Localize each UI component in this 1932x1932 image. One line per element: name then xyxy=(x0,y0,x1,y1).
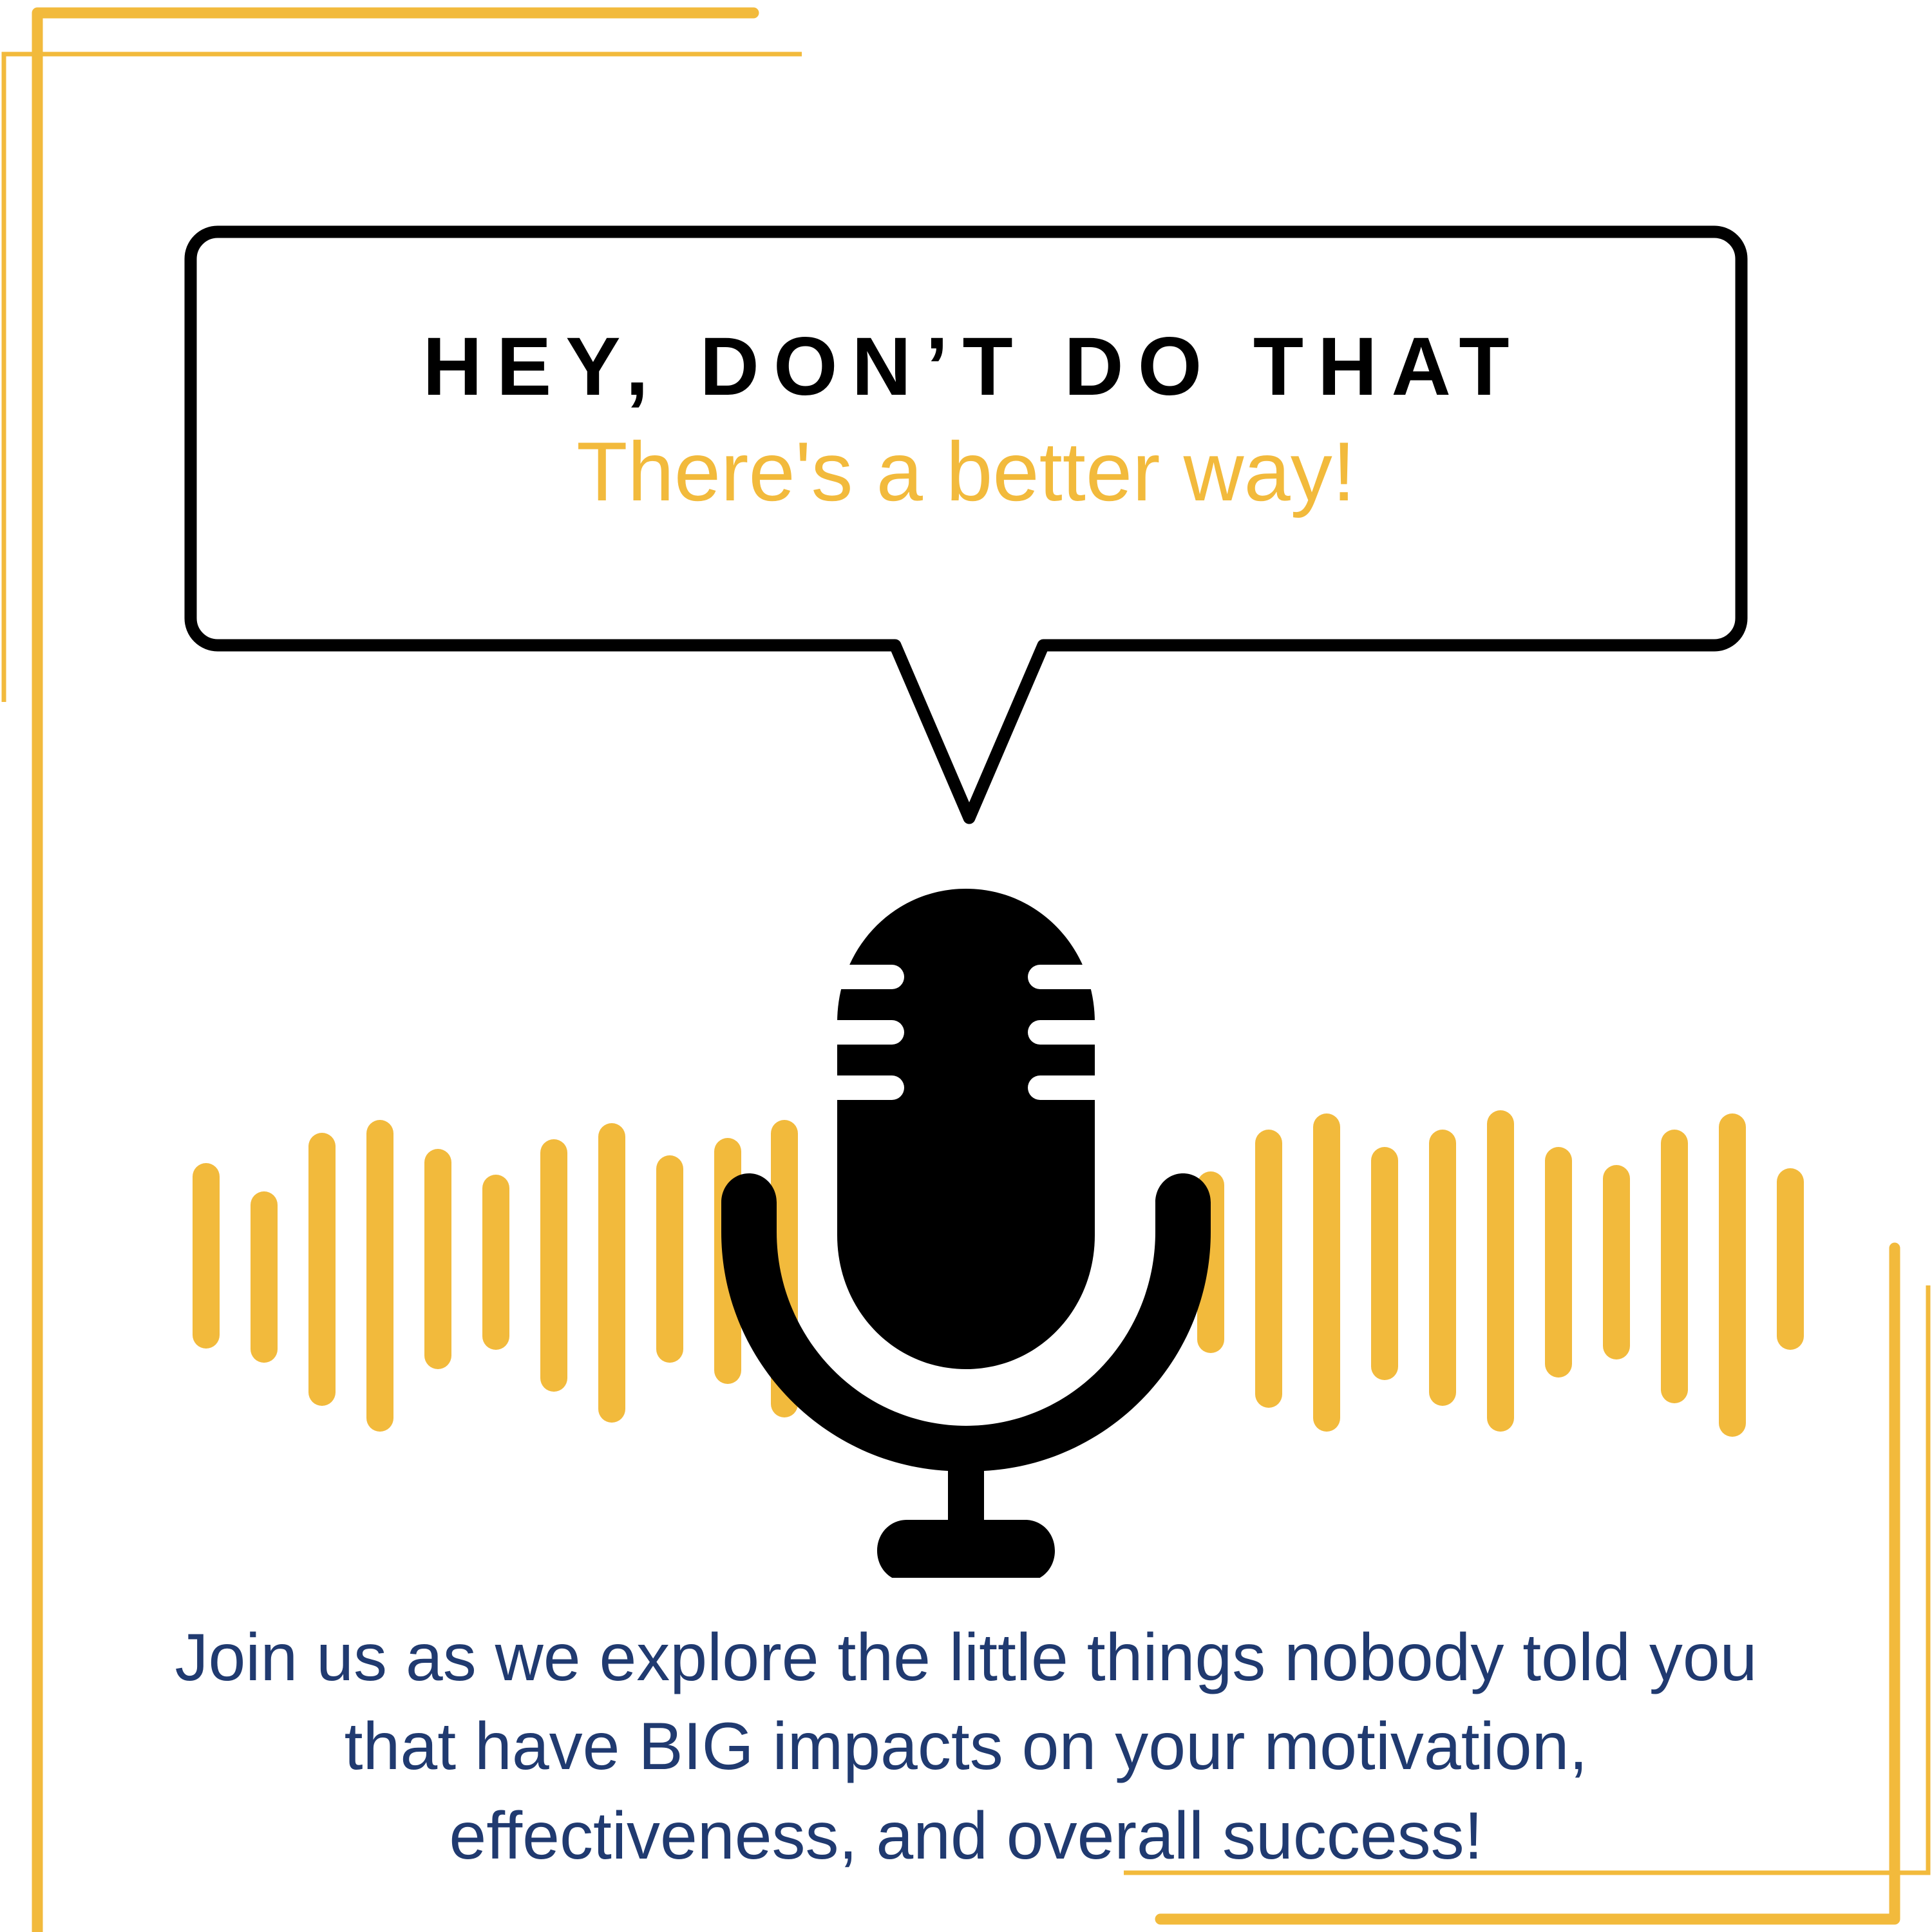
subheadline: There's a better way! xyxy=(576,428,1356,516)
waveform-left xyxy=(206,1133,784,1418)
speech-bubble-text: HEY, DON’T DO THAT There's a better way! xyxy=(192,196,1740,645)
waveform-and-mic xyxy=(0,869,1932,1578)
poster-canvas: HEY, DON’T DO THAT There's a better way! xyxy=(0,0,1932,1932)
tagline-block: Join us as we explore the little things … xyxy=(129,1613,1803,1880)
audio-wave-band xyxy=(0,869,1932,1578)
headline: HEY, DON’T DO THAT xyxy=(408,326,1523,408)
tagline-line-1: Join us as we explore the little things … xyxy=(129,1613,1803,1702)
tagline-line-3: effectiveness, and overall success! xyxy=(129,1792,1803,1880)
tagline-line-2: that have BIG impacts on your motivation… xyxy=(129,1702,1803,1791)
waveform-right xyxy=(1211,1124,1790,1423)
